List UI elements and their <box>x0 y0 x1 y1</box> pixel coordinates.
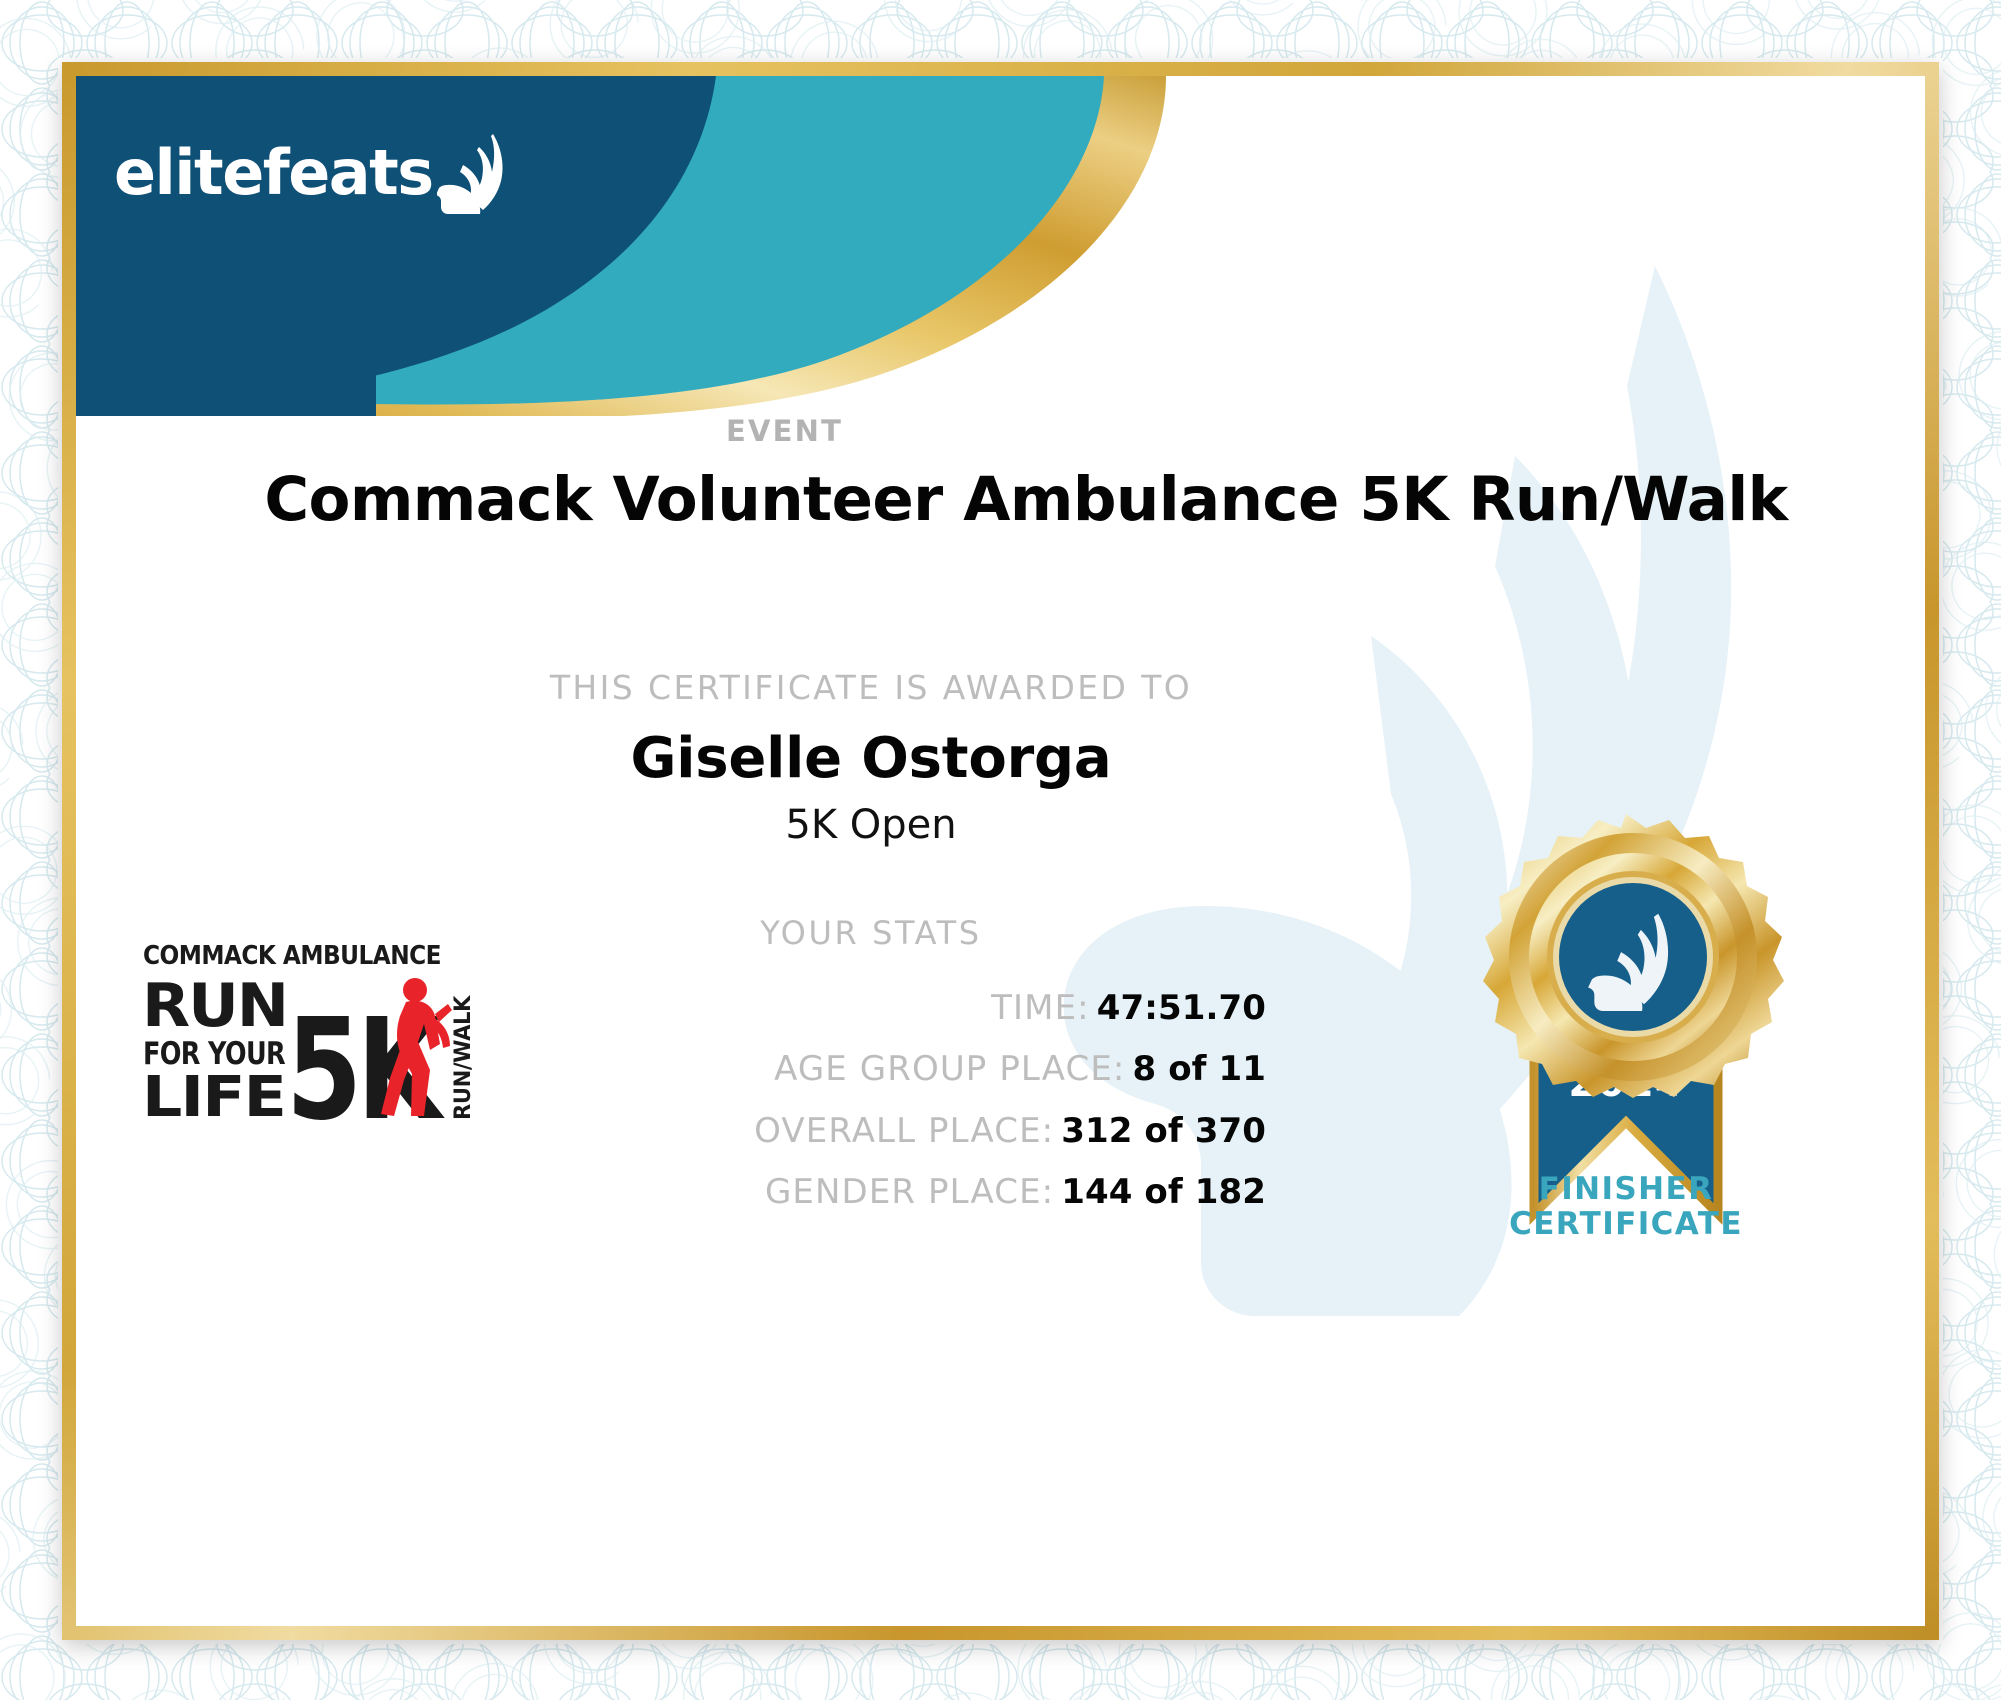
division-label: 5K Open <box>476 802 1266 848</box>
finisher-caption-line1: FINISHER <box>1456 1172 1796 1207</box>
stat-row-time: TIME:47:51.70 <box>376 988 1266 1029</box>
event-title: Commack Volunteer Ambulance 5K Run/Walk <box>176 464 1876 535</box>
event-label: EVENT <box>726 414 1026 448</box>
your-stats-label: YOUR STATS <box>476 914 1266 952</box>
stat-value: 47:51.70 <box>1097 988 1266 1028</box>
brand-name: elitefeats <box>114 142 433 204</box>
header-curve-art <box>76 76 1166 416</box>
stat-key: OVERALL PLACE: <box>754 1111 1054 1151</box>
stat-row-overall-place: OVERALL PLACE:312 of 370 <box>376 1111 1266 1152</box>
commack-ambulance-logo: COMMACK AMBULANCE RUN FOR YOUR LIFE 5K R… <box>138 938 483 1128</box>
winged-foot-icon <box>437 131 515 215</box>
stat-key: GENDER PLACE: <box>765 1172 1054 1212</box>
stat-key: AGE GROUP PLACE: <box>774 1049 1125 1089</box>
stat-value: 312 of 370 <box>1061 1111 1266 1151</box>
stat-row-age-group-place: AGE GROUP PLACE:8 of 11 <box>376 1049 1266 1090</box>
stats-list: TIME:47:51.70 AGE GROUP PLACE:8 of 11 OV… <box>376 988 1266 1234</box>
certificate-body: elitefeats EVENT Commack Volunteer Ambul… <box>76 76 1925 1626</box>
brand-logo: elitefeats <box>114 131 515 215</box>
sponsor-run: RUN <box>142 971 287 1041</box>
finisher-caption: FINISHER CERTIFICATE <box>1456 1172 1796 1241</box>
sponsor-vertical-runwalk: RUN/WALK <box>451 995 476 1120</box>
stat-value: 8 of 11 <box>1133 1049 1267 1089</box>
stat-row-gender-place: GENDER PLACE:144 of 182 <box>376 1172 1266 1213</box>
awarded-to-label: THIS CERTIFICATE IS AWARDED TO <box>506 668 1236 707</box>
sponsor-top-line: COMMACK AMBULANCE <box>143 941 441 971</box>
stat-value: 144 of 182 <box>1061 1172 1266 1212</box>
finisher-caption-line2: CERTIFICATE <box>1456 1207 1796 1242</box>
certificate-frame: elitefeats EVENT Commack Volunteer Ambul… <box>62 62 1939 1640</box>
sponsor-life: LIFE <box>142 1065 285 1128</box>
certificate-page: elitefeats EVENT Commack Volunteer Ambul… <box>0 0 2001 1700</box>
stat-key: TIME: <box>991 988 1090 1028</box>
medal-scallop <box>1483 814 1784 1098</box>
recipient-name: Giselle Ostorga <box>476 726 1266 791</box>
